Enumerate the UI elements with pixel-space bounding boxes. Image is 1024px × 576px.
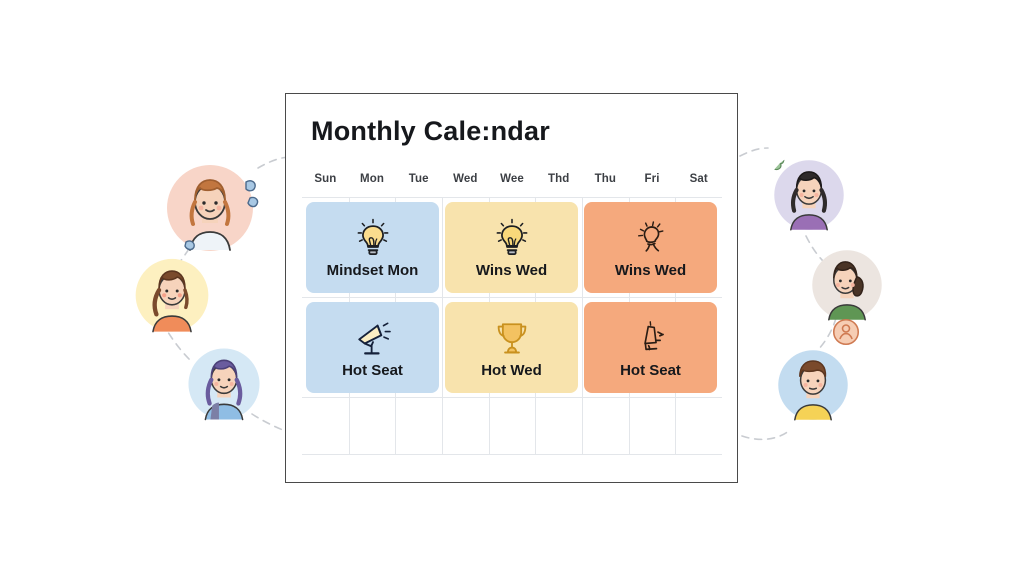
sketch-megaphone-icon — [629, 315, 673, 361]
event-label: Hot Wed — [481, 362, 542, 379]
avatar-right-top — [766, 152, 852, 238]
event-card-wins-wed-yellow[interactable]: Wins Wed — [445, 202, 578, 293]
day-of-week-header: Sun Mon Tue Wed Wee Thd Thu Fri Sat — [302, 173, 722, 195]
day-header-tue: Tue — [395, 173, 442, 195]
day-header-thu: Thu — [582, 173, 629, 195]
event-label: Hot Seat — [342, 362, 403, 379]
lightbulb-icon — [490, 215, 534, 261]
calendar-events: Mindset Mon — [302, 197, 722, 455]
event-card-hot-seat-blue[interactable]: Hot Seat — [306, 302, 439, 393]
illustration-canvas: Monthly Cale:ndar Sun Mon Tue Wed Wee Th… — [0, 0, 1024, 576]
avatar-left-top — [160, 158, 264, 262]
day-header-wee: Wee — [489, 173, 536, 195]
day-header-thd: Thd — [535, 173, 582, 195]
sketch-bulb-icon — [629, 215, 673, 261]
avatar-right-middle — [804, 242, 890, 328]
day-header-mon: Mon — [349, 173, 396, 195]
avatar-left-bottom — [180, 340, 268, 428]
day-header-wed: Wed — [442, 173, 489, 195]
event-label: Mindset Mon — [327, 262, 419, 279]
event-label: Hot Seat — [620, 362, 681, 379]
megaphone-icon — [351, 315, 395, 361]
event-card-wins-wed-orange[interactable]: Wins Wed — [584, 202, 717, 293]
event-label: Wins Wed — [615, 262, 686, 279]
avatar-left-middle — [127, 252, 217, 342]
event-label: Wins Wed — [476, 262, 547, 279]
person-badge — [832, 318, 860, 346]
lightbulb-icon — [351, 215, 395, 261]
calendar-card: Monthly Cale:ndar Sun Mon Tue Wed Wee Th… — [285, 93, 738, 483]
day-header-sat: Sat — [675, 173, 722, 195]
page-title: Monthly Cale:ndar — [311, 116, 550, 147]
event-card-mindset-mon[interactable]: Mindset Mon — [306, 202, 439, 293]
trophy-icon — [490, 315, 534, 361]
day-header-sun: Sun — [302, 173, 349, 195]
avatar-right-bottom — [770, 342, 856, 428]
event-card-hot-seat-orange[interactable]: Hot Seat — [584, 302, 717, 393]
day-header-fri: Fri — [629, 173, 676, 195]
event-card-hot-wed[interactable]: Hot Wed — [445, 302, 578, 393]
